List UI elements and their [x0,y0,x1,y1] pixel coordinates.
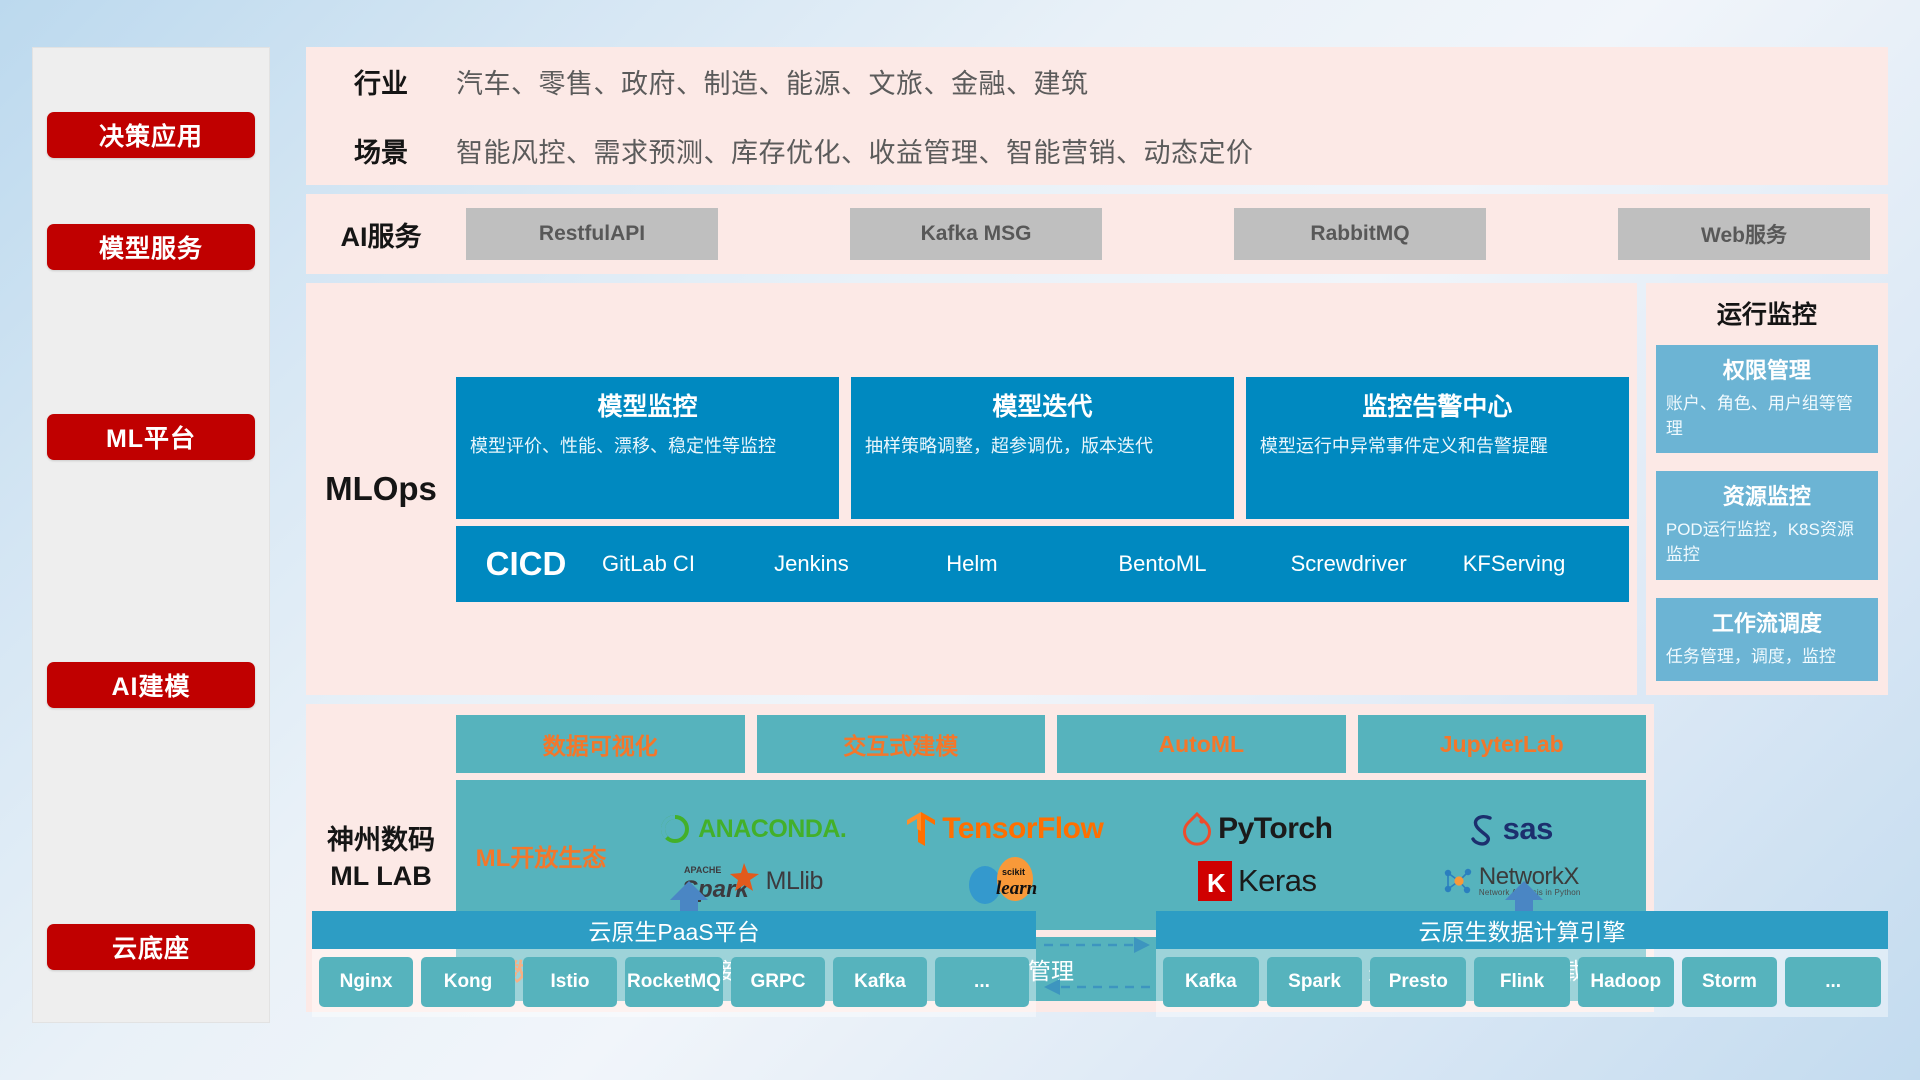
tensorflow-icon [906,811,936,847]
ai-chip-kafka-msg[interactable]: Kafka MSG [850,208,1102,260]
runtime-monitor-title: 运行监控 [1656,295,1878,331]
rail-item-label: 云底座 [112,929,190,965]
industry-row: 行业 汽车、零售、政府、制造、能源、文旅、金融、建筑 [306,47,1888,116]
cicd-label: CICD [456,545,596,583]
cicd-item-bentoml[interactable]: BentoML [1112,551,1284,576]
runtime-monitor-band: 运行监控 权限管理 账户、角色、用户组等管理 资源监控 POD运行监控，K8S资… [1646,283,1888,695]
paas-chip-kong[interactable]: Kong [421,957,515,1007]
ml-platform-row: MLOps 模型监控 模型评价、性能、漂移、稳定性等监控 模型迭代 抽样策略调整… [306,283,1888,695]
ml-lab-tab-list: 数据可视化 交互式建模 AutoML JupyterLab [456,715,1646,773]
paas-platform-block: 云原生PaaS平台 Nginx Kong Istio RocketMQ GRPC… [312,911,1036,1017]
logo-pytorch[interactable]: PyTorch [1182,812,1332,846]
scenario-label: 场景 [306,131,456,170]
ml-lab-label-line1: 神州数码 [306,822,456,858]
data-engine-chip-list: Kafka Spark Presto Flink Hadoop Storm ..… [1156,949,1888,1017]
monitor-card-desc: 账户、角色、用户组等管理 [1666,392,1868,441]
paas-platform-title: 云原生PaaS平台 [312,911,1036,949]
cicd-item-screwdriver[interactable]: Screwdriver [1285,551,1457,576]
mlops-card-title: 模型迭代 [865,387,1220,423]
mlops-card-model-iteration[interactable]: 模型迭代 抽样策略调整，超参调优，版本迭代 [851,377,1234,519]
engine-chip-storm[interactable]: Storm [1682,957,1778,1007]
tab-automl[interactable]: AutoML [1057,715,1346,773]
paas-chip-nginx[interactable]: Nginx [319,957,413,1007]
paas-chip-rocketmq[interactable]: RocketMQ [625,957,723,1007]
cicd-bar: CICD GitLab CI Jenkins Helm BentoML Scre… [456,526,1629,602]
ai-service-label: AI服务 [306,215,456,254]
monitor-card-workflow[interactable]: 工作流调度 任务管理，调度，监控 [1656,598,1878,682]
rail-item-label: AI建模 [111,667,190,703]
svg-text:scikit: scikit [1002,867,1025,877]
monitor-card-title: 资源监控 [1666,479,1868,511]
rail-item-label: ML平台 [106,419,196,455]
ai-service-chip-list: RestfulAPI Kafka MSG RabbitMQ Web服务 [456,208,1888,260]
svg-text:K: K [1207,868,1226,898]
mlops-card-desc: 模型评价、性能、漂移、稳定性等监控 [470,433,825,460]
sas-icon [1467,812,1497,846]
paas-chip-grpc[interactable]: GRPC [731,957,825,1007]
scenario-row: 场景 智能风控、需求预测、库存优化、收益管理、智能营销、动态定价 [306,116,1888,185]
monitor-card-title: 权限管理 [1666,353,1868,385]
architecture-diagram: 决策应用 模型服务 ML平台 AI建模 云底座 行业 汽车、零售、政府、制造、能… [0,0,1920,1080]
engine-chip-presto[interactable]: Presto [1370,957,1466,1007]
networkx-icon [1439,864,1473,898]
rail-item-model-service[interactable]: 模型服务 [47,224,255,270]
ai-chip-web-service[interactable]: Web服务 [1618,208,1870,260]
ml-lab-label: 神州数码 ML LAB [306,822,456,895]
monitor-card-desc: POD运行监控，K8S资源监控 [1666,518,1868,567]
mlops-card-title: 监控告警中心 [1260,387,1615,423]
decision-apps-band: 行业 汽车、零售、政府、制造、能源、文旅、金融、建筑 场景 智能风控、需求预测、… [306,47,1888,185]
cicd-item-gitlab-ci[interactable]: GitLab CI [596,551,768,576]
engine-chip-hadoop[interactable]: Hadoop [1578,957,1674,1007]
logo-anaconda-label: ANACONDA. [698,815,846,844]
rail-item-label: 模型服务 [99,229,203,265]
industry-value: 汽车、零售、政府、制造、能源、文旅、金融、建筑 [456,62,1089,101]
mlops-card-title: 模型监控 [470,387,825,423]
layer-rail: 决策应用 模型服务 ML平台 AI建模 云底座 [32,47,270,1023]
industry-label: 行业 [306,62,456,101]
logo-anaconda[interactable]: ANACONDA. [658,812,846,846]
ai-chip-rabbitmq[interactable]: RabbitMQ [1234,208,1486,260]
logo-mllib-label: MLlib [766,867,823,896]
tab-jupyterlab[interactable]: JupyterLab [1358,715,1647,773]
scenario-value: 智能风控、需求预测、库存优化、收益管理、智能营销、动态定价 [456,131,1254,170]
logo-pytorch-label: PyTorch [1218,812,1332,846]
cloud-base-row: 云原生PaaS平台 Nginx Kong Istio RocketMQ GRPC… [306,895,1888,1025]
ai-chip-restfulapi[interactable]: RestfulAPI [466,208,718,260]
mlops-card-list: 模型监控 模型评价、性能、漂移、稳定性等监控 模型迭代 抽样策略调整，超参调优，… [456,377,1629,519]
bidirectional-connector [1042,929,1152,1001]
ml-open-ecosystem-label: ML开放生态 [456,838,626,873]
tab-data-visualization[interactable]: 数据可视化 [456,715,745,773]
mlops-card-model-monitoring[interactable]: 模型监控 模型评价、性能、漂移、稳定性等监控 [456,377,839,519]
paas-chip-istio[interactable]: Istio [523,957,617,1007]
monitor-card-permission[interactable]: 权限管理 账户、角色、用户组等管理 [1656,345,1878,453]
cicd-item-jenkins[interactable]: Jenkins [768,551,940,576]
mlops-card-desc: 抽样策略调整，超参调优，版本迭代 [865,433,1220,460]
monitor-card-desc: 任务管理，调度，监控 [1666,645,1868,670]
logo-tensorflow-label: TensorFlow [942,812,1103,846]
ai-service-band: AI服务 RestfulAPI Kafka MSG RabbitMQ Web服务 [306,194,1888,274]
logo-keras-label: Keras [1238,863,1316,899]
svg-text:APACHE: APACHE [684,865,721,875]
engine-chip-more[interactable]: ... [1785,957,1881,1007]
rail-item-cloud-base[interactable]: 云底座 [47,924,255,970]
engine-chip-kafka[interactable]: Kafka [1163,957,1259,1007]
mlops-band: MLOps 模型监控 模型评价、性能、漂移、稳定性等监控 模型迭代 抽样策略调整… [306,283,1637,695]
cicd-item-kfserving[interactable]: KFServing [1457,551,1629,576]
rail-item-decision-apps[interactable]: 决策应用 [47,112,255,158]
paas-chip-list: Nginx Kong Istio RocketMQ GRPC Kafka ... [312,949,1036,1017]
cicd-item-helm[interactable]: Helm [940,551,1112,576]
mlops-label: MLOps [306,470,456,508]
logo-sas-label: sas [1503,811,1553,847]
logo-tensorflow[interactable]: TensorFlow [906,811,1103,847]
rail-item-ai-modeling[interactable]: AI建模 [47,662,255,708]
mlops-content: 模型监控 模型评价、性能、漂移、稳定性等监控 模型迭代 抽样策略调整，超参调优，… [456,377,1637,602]
rail-item-ml-platform[interactable]: ML平台 [47,414,255,460]
paas-chip-kafka[interactable]: Kafka [833,957,927,1007]
paas-chip-more[interactable]: ... [935,957,1029,1007]
logo-sas[interactable]: sas [1467,811,1553,847]
engine-chip-spark[interactable]: Spark [1267,957,1363,1007]
tab-interactive-modeling[interactable]: 交互式建模 [757,715,1046,773]
main-column: 行业 汽车、零售、政府、制造、能源、文旅、金融、建筑 场景 智能风控、需求预测、… [306,47,1888,1012]
rail-item-label: 决策应用 [99,117,203,153]
monitor-card-resource[interactable]: 资源监控 POD运行监控，K8S资源监控 [1656,471,1878,579]
mlops-card-alert-center[interactable]: 监控告警中心 模型运行中异常事件定义和告警提醒 [1246,377,1629,519]
monitor-card-title: 工作流调度 [1666,606,1868,638]
data-compute-engine-title: 云原生数据计算引擎 [1156,911,1888,949]
anaconda-icon [658,812,692,846]
data-compute-engine-block: 云原生数据计算引擎 Kafka Spark Presto Flink Hadoo… [1156,911,1888,1017]
engine-chip-flink[interactable]: Flink [1474,957,1570,1007]
ml-lab-label-line2: ML LAB [306,858,456,894]
mlops-card-desc: 模型运行中异常事件定义和告警提醒 [1260,433,1615,460]
pytorch-icon [1182,812,1212,846]
